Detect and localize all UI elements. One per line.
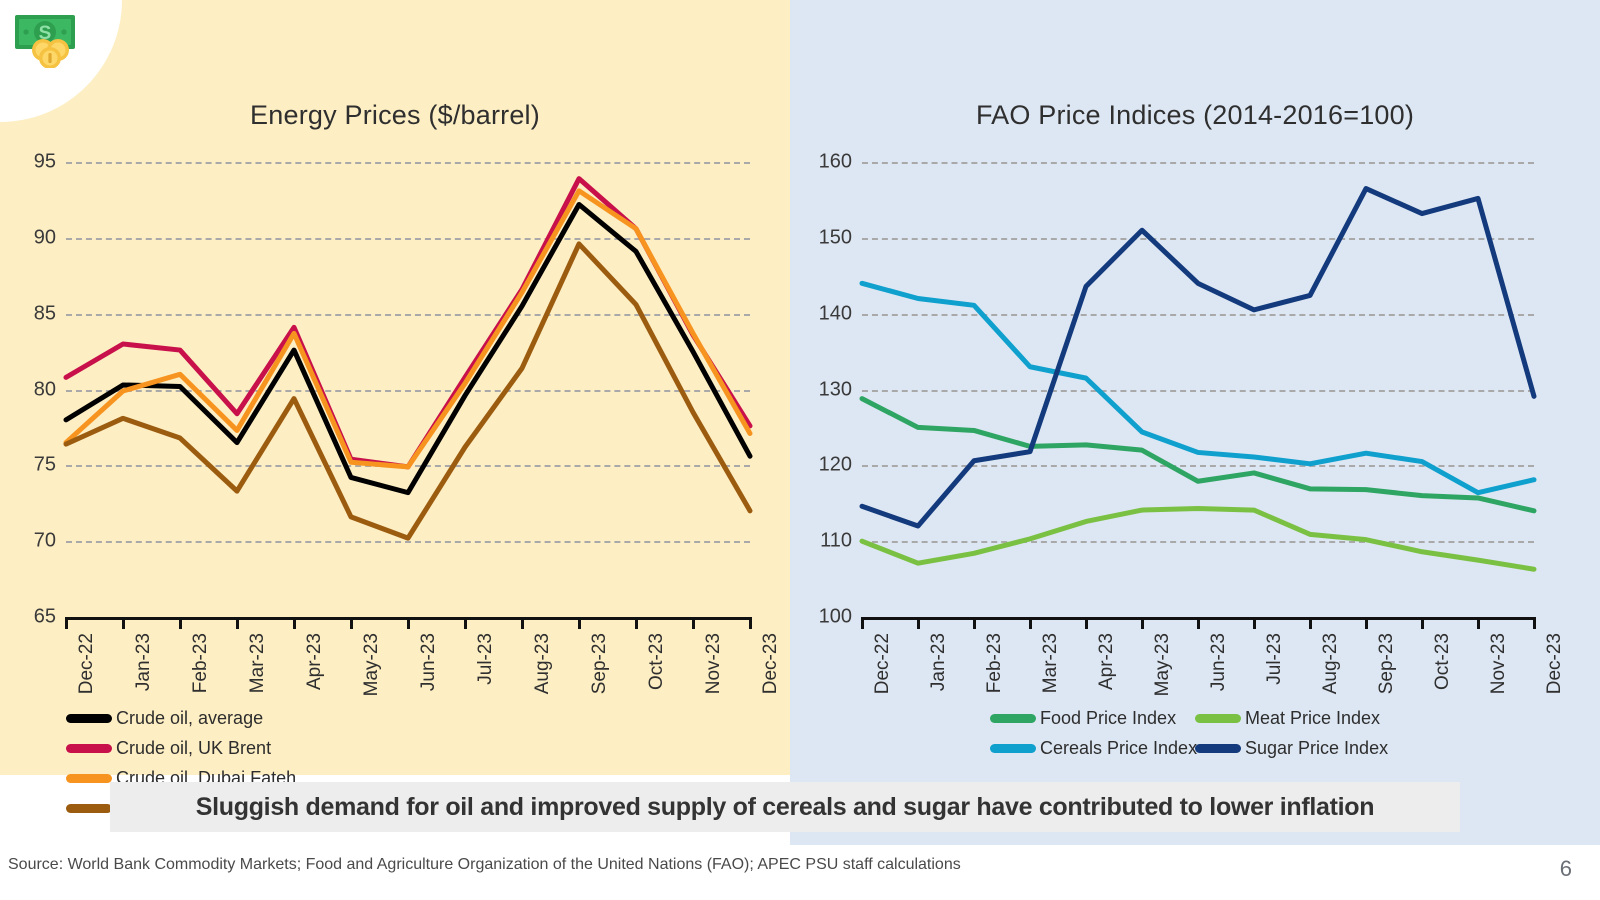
x-axis-tick <box>749 617 752 629</box>
x-axis-tick-label: May-23 <box>361 633 383 696</box>
legend-color-swatch <box>66 804 112 813</box>
y-axis-tick-label: 120 <box>819 454 862 477</box>
x-axis-tick-label: Jan-23 <box>133 633 155 691</box>
y-axis-tick-label: 140 <box>819 302 862 325</box>
x-axis-tick <box>1533 617 1536 629</box>
y-axis-tick-label: 90 <box>34 226 66 249</box>
x-axis-tick-label: Sep-23 <box>1376 633 1398 694</box>
x-axis-tick <box>1477 617 1480 629</box>
plot-area: 100110120130140150160 Dec-22Jan-23Feb-23… <box>862 162 1534 617</box>
x-axis-tick <box>1421 617 1424 629</box>
x-axis-tick <box>521 617 524 629</box>
x-axis-tick-label: Apr-23 <box>1096 633 1118 690</box>
y-axis-tick-label: 130 <box>819 378 862 401</box>
x-axis-tick-label: Aug-23 <box>1320 633 1342 694</box>
energy-prices-chart: Energy Prices ($/barrel) 65707580859095 … <box>0 100 790 131</box>
x-axis-tick-label: Jul-23 <box>1264 633 1286 685</box>
series-layer <box>66 162 750 617</box>
x-axis-tick-label: Aug-23 <box>532 633 554 694</box>
legend-color-swatch <box>1195 714 1241 723</box>
x-axis-tick-label: Jul-23 <box>475 633 497 685</box>
legend-color-swatch <box>990 744 1036 753</box>
chart-title: Energy Prices ($/barrel) <box>0 100 790 131</box>
x-axis-tick-label: Jun-23 <box>418 633 440 691</box>
x-axis-tick-label: Dec-22 <box>872 633 894 694</box>
x-axis-tick <box>692 617 695 629</box>
x-axis-tick-label: Jan-23 <box>928 633 950 691</box>
x-axis-tick-label: Oct-23 <box>1432 633 1454 690</box>
x-axis-tick <box>407 617 410 629</box>
x-axis-tick <box>917 617 920 629</box>
x-axis-tick <box>293 617 296 629</box>
x-axis-tick <box>973 617 976 629</box>
x-axis-tick <box>1197 617 1200 629</box>
x-axis-tick-label: Dec-23 <box>760 633 782 694</box>
fao-legend: Food Price IndexMeat Price IndexCereals … <box>990 708 1550 768</box>
chart-title: FAO Price Indices (2014-2016=100) <box>790 100 1600 131</box>
legend-color-swatch <box>66 714 112 723</box>
x-axis-tick <box>236 617 239 629</box>
y-axis-tick-label: 80 <box>34 378 66 401</box>
legend-item[interactable]: Sugar Price Index <box>1195 738 1400 759</box>
y-axis-tick-label: 85 <box>34 302 66 325</box>
legend-item[interactable]: Cereals Price Index <box>990 738 1195 759</box>
y-axis-tick-label: 150 <box>819 226 862 249</box>
x-axis-tick-label: May-23 <box>1152 633 1174 696</box>
legend-label: Crude oil, UK Brent <box>116 738 271 759</box>
x-axis-tick <box>65 617 68 629</box>
x-axis-tick <box>635 617 638 629</box>
x-axis-tick <box>1365 617 1368 629</box>
x-axis-tick <box>350 617 353 629</box>
y-axis-tick-label: 75 <box>34 454 66 477</box>
legend-label: Crude oil, average <box>116 708 263 729</box>
legend-color-swatch <box>66 774 112 783</box>
y-axis-tick-label: 110 <box>820 530 862 553</box>
x-axis-tick <box>1029 617 1032 629</box>
series-line <box>862 509 1534 570</box>
legend-label: Cereals Price Index <box>1040 738 1197 759</box>
x-axis-tick-label: Sep-23 <box>589 633 611 694</box>
series-line <box>862 283 1534 492</box>
x-axis-tick <box>578 617 581 629</box>
x-axis-tick-label: Nov-23 <box>703 633 725 694</box>
series-layer <box>862 162 1534 617</box>
x-axis-tick-label: Jun-23 <box>1208 633 1230 691</box>
legend-label: Food Price Index <box>1040 708 1176 729</box>
x-axis-tick <box>1085 617 1088 629</box>
slide: S Energy Prices ($/barrel) 6570758085909… <box>0 0 1600 900</box>
legend-color-swatch <box>66 744 112 753</box>
y-axis-tick-label: 160 <box>819 151 862 174</box>
key-message-text: Sluggish demand for oil and improved sup… <box>196 793 1375 822</box>
x-axis-tick-label: Dec-23 <box>1544 633 1566 694</box>
legend-item[interactable]: Food Price Index <box>990 708 1195 729</box>
legend-item[interactable]: Meat Price Index <box>1195 708 1400 729</box>
x-axis-tick-label: Feb-23 <box>984 633 1006 693</box>
legend-item[interactable]: Crude oil, average <box>66 708 426 729</box>
x-axis-tick-label: Feb-23 <box>190 633 212 693</box>
x-axis-tick <box>1309 617 1312 629</box>
legend-label: Meat Price Index <box>1245 708 1380 729</box>
money-coins-icon: S <box>12 10 90 68</box>
x-axis-tick <box>1253 617 1256 629</box>
fao-price-indices-chart: FAO Price Indices (2014-2016=100) 100110… <box>790 100 1600 131</box>
x-axis-tick <box>464 617 467 629</box>
x-axis-tick-label: Nov-23 <box>1488 633 1510 694</box>
legend-label: Sugar Price Index <box>1245 738 1388 759</box>
x-axis-tick-label: Oct-23 <box>646 633 668 690</box>
y-axis-tick-label: 65 <box>34 606 66 629</box>
x-axis-tick <box>1141 617 1144 629</box>
legend-color-swatch <box>1195 744 1241 753</box>
x-axis-tick-label: Dec-22 <box>76 633 98 694</box>
legend-color-swatch <box>990 714 1036 723</box>
page-number: 6 <box>1560 856 1572 882</box>
x-axis-tick-label: Apr-23 <box>304 633 326 690</box>
source-note: Source: World Bank Commodity Markets; Fo… <box>8 856 961 874</box>
y-axis-tick-label: 95 <box>34 151 66 174</box>
x-axis-tick <box>122 617 125 629</box>
y-axis-tick-label: 100 <box>819 606 862 629</box>
y-axis-tick-label: 70 <box>34 530 66 553</box>
plot-area: 65707580859095 Dec-22Jan-23Feb-23Mar-23A… <box>66 162 750 617</box>
x-axis-tick-label: Mar-23 <box>1040 633 1062 693</box>
x-axis-tick <box>179 617 182 629</box>
x-axis-tick-label: Mar-23 <box>247 633 269 693</box>
x-axis-tick <box>861 617 864 629</box>
legend-item[interactable]: Crude oil, UK Brent <box>66 738 426 759</box>
series-line <box>862 189 1534 526</box>
key-message-banner: Sluggish demand for oil and improved sup… <box>110 782 1460 832</box>
